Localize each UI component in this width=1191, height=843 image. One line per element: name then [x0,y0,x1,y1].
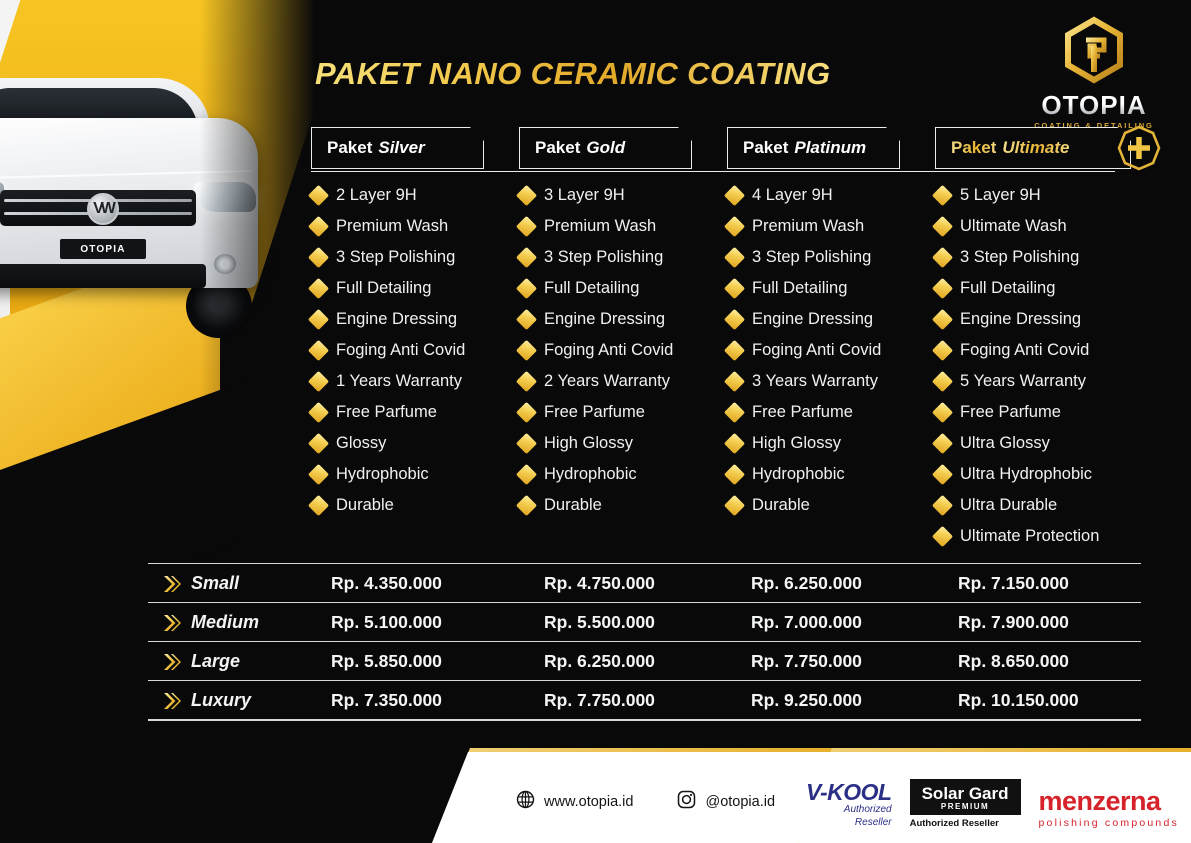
feature-label: 3 Step Polishing [752,248,871,267]
feature-item: Engine Dressing [311,304,465,335]
diamond-bullet-icon [516,216,537,237]
feature-item: High Glossy [727,428,881,459]
feature-item: Glossy [311,428,465,459]
size-cell: Luxury [162,681,251,720]
poster-root: VW OTOPIA PAKET NANO CERAMIC COATING [0,0,1191,843]
feature-label: Foging Anti Covid [752,341,881,360]
solargard-box: Solar Gard PREMIUM [910,779,1021,815]
price-cell: Rp. 7.150.000 [958,564,1069,603]
solargard-reseller: Authorized Reseller [910,818,1021,829]
feature-item: Engine Dressing [519,304,673,335]
diamond-bullet-icon [932,464,953,485]
feature-label: 2 Layer 9H [336,186,417,205]
feature-item: 3 Step Polishing [519,242,673,273]
feature-item: 5 Layer 9H [935,180,1099,211]
feature-item: Ultra Glossy [935,428,1099,459]
price-cell: Rp. 10.150.000 [958,681,1079,720]
feature-label: 3 Step Polishing [336,248,455,267]
table-row: LargeRp. 5.850.000Rp. 6.250.000Rp. 7.750… [148,641,1141,680]
feature-item: 3 Step Polishing [935,242,1099,273]
feature-label: Engine Dressing [336,310,457,329]
feature-label: Engine Dressing [544,310,665,329]
license-plate: OTOPIA [59,238,147,260]
tabs-baseline [311,171,1115,173]
price-cell: Rp. 7.350.000 [331,681,442,720]
feature-item: Full Detailing [935,273,1099,304]
feature-label: Ultra Glossy [960,434,1050,453]
diamond-bullet-icon [516,464,537,485]
diamond-bullet-icon [516,340,537,361]
diamond-bullet-icon [724,340,745,361]
diamond-bullet-icon [724,495,745,516]
feature-label: 4 Layer 9H [752,186,833,205]
footer: www.otopia.id @otopia.id V-KOOL Authoriz… [0,733,1191,843]
feature-item: Premium Wash [727,211,881,242]
diamond-bullet-icon [724,433,745,454]
feature-label: Premium Wash [336,217,448,236]
feature-label: Foging Anti Covid [544,341,673,360]
feature-item: Engine Dressing [727,304,881,335]
feature-label: Durable [336,496,394,515]
size-cell: Small [162,564,239,603]
feature-item: Durable [519,490,673,521]
diamond-bullet-icon [516,495,537,516]
feature-label: Hydrophobic [336,465,429,484]
diamond-bullet-icon [724,402,745,423]
feature-item: 3 Years Warranty [727,366,881,397]
feature-label: 3 Years Warranty [752,372,878,391]
feature-label: Free Parfume [752,403,853,422]
vw-emblem-icon: VW [87,193,119,225]
diamond-bullet-icon [724,371,745,392]
diamond-bullet-icon [932,340,953,361]
chevron-right-icon [162,652,182,672]
feature-label: High Glossy [752,434,841,453]
feature-label: 5 Layer 9H [960,186,1041,205]
price-cell: Rp. 7.000.000 [751,603,862,642]
feature-item: 5 Years Warranty [935,366,1099,397]
diamond-bullet-icon [516,278,537,299]
feature-item: Free Parfume [935,397,1099,428]
size-cell: Medium [162,603,259,642]
diamond-bullet-icon [516,402,537,423]
price-table: SmallRp. 4.350.000Rp. 4.750.000Rp. 6.250… [148,563,1141,721]
diamond-bullet-icon [308,309,329,330]
feature-label: Premium Wash [752,217,864,236]
vkool-line2: Reseller [806,817,892,830]
diamond-bullet-icon [724,464,745,485]
tab-paket-gold[interactable]: PaketGold [519,127,692,169]
feature-label: Engine Dressing [752,310,873,329]
feature-item: Full Detailing [311,273,465,304]
feature-item: Foging Anti Covid [519,335,673,366]
chevron-right-icon [162,691,182,711]
price-cell: Rp. 9.250.000 [751,681,862,720]
feature-label: 3 Layer 9H [544,186,625,205]
feature-label: Ultra Durable [960,496,1057,515]
tab-paket-ultimate[interactable]: PaketUltimate [935,127,1131,169]
feature-item: Hydrophobic [519,459,673,490]
feature-label: Full Detailing [960,279,1055,298]
feature-item: Foging Anti Covid [311,335,465,366]
feature-item: 4 Layer 9H [727,180,881,211]
price-cell: Rp. 7.750.000 [751,642,862,681]
feature-item: Ultra Durable [935,490,1099,521]
feature-label: Full Detailing [752,279,847,298]
feature-item: Free Parfume [519,397,673,428]
size-label: Small [191,573,239,594]
website-link[interactable]: www.otopia.id [544,794,633,810]
feature-item: Premium Wash [311,211,465,242]
price-cell: Rp. 5.100.000 [331,603,442,642]
car-bumper [0,264,206,288]
logo-wordmark: OTOPIA [1024,92,1164,118]
table-row: SmallRp. 4.350.000Rp. 4.750.000Rp. 6.250… [148,563,1141,602]
diamond-bullet-icon [308,464,329,485]
price-cell: Rp. 7.900.000 [958,603,1069,642]
feature-item: Foging Anti Covid [935,335,1099,366]
feature-item: Ultra Hydrophobic [935,459,1099,490]
diamond-bullet-icon [932,526,953,547]
size-label: Medium [191,612,259,633]
feature-label: 2 Years Warranty [544,372,670,391]
diamond-bullet-icon [308,216,329,237]
tab-prefix: Paket [535,138,580,157]
feature-item: Ultimate Protection [935,521,1099,552]
feature-column-ultimate: 5 Layer 9HUltimate Wash3 Step PolishingF… [935,180,1099,552]
feature-item: Durable [727,490,881,521]
diamond-bullet-icon [932,247,953,268]
diamond-bullet-icon [932,371,953,392]
feature-column-platinum: 4 Layer 9HPremium Wash3 Step PolishingFu… [727,180,881,521]
feature-column-silver: 2 Layer 9HPremium Wash3 Step PolishingFu… [311,180,465,521]
instagram-handle[interactable]: @otopia.id [705,794,775,810]
feature-item: Hydrophobic [311,459,465,490]
tab-name: Silver [378,138,424,157]
diamond-bullet-icon [724,185,745,206]
feature-item: 3 Step Polishing [311,242,465,273]
tab-prefix: Paket [327,138,372,157]
price-cell: Rp. 6.250.000 [751,564,862,603]
feature-item: 1 Years Warranty [311,366,465,397]
tab-prefix: Paket [743,138,788,157]
feature-item: 2 Years Warranty [519,366,673,397]
solargard-logo: Solar Gard PREMIUM Authorized Reseller [910,779,1021,829]
size-cell: Large [162,642,240,681]
diamond-bullet-icon [308,433,329,454]
feature-item: Full Detailing [727,273,881,304]
diamond-bullet-icon [308,371,329,392]
feature-item: Engine Dressing [935,304,1099,335]
feature-label: Durable [752,496,810,515]
feature-item: Free Parfume [311,397,465,428]
feature-label: Free Parfume [960,403,1061,422]
price-cell: Rp. 4.350.000 [331,564,442,603]
diamond-bullet-icon [724,278,745,299]
contact-info: www.otopia.id @otopia.id [516,790,775,813]
diamond-bullet-icon [308,340,329,361]
diamond-bullet-icon [932,402,953,423]
feature-label: Full Detailing [336,279,431,298]
tab-name: Ultimate [1002,138,1069,157]
diamond-bullet-icon [932,185,953,206]
feature-label: Free Parfume [336,403,437,422]
feature-label: Ultimate Wash [960,217,1067,236]
feature-label: Hydrophobic [752,465,845,484]
partner-logos: V-KOOL Authorized Reseller Solar Gard PR… [806,779,1179,829]
price-cell: Rp. 5.850.000 [331,642,442,681]
brand-logo: OTOPIA COATING & DETAILING [1024,16,1164,130]
hero-artwork: VW OTOPIA [0,0,330,560]
feature-item: Ultimate Wash [935,211,1099,242]
diamond-bullet-icon [308,495,329,516]
feature-label: Durable [544,496,602,515]
diamond-bullet-icon [516,433,537,454]
feature-label: Engine Dressing [960,310,1081,329]
diamond-bullet-icon [308,402,329,423]
tab-name: Platinum [794,138,866,157]
feature-label: 3 Step Polishing [544,248,663,267]
solargard-premium: PREMIUM [922,802,1009,811]
diamond-bullet-icon [932,278,953,299]
feature-item: 2 Layer 9H [311,180,465,211]
table-row: MediumRp. 5.100.000Rp. 5.500.000Rp. 7.00… [148,602,1141,641]
feature-item: Hydrophobic [727,459,881,490]
tab-paket-platinum[interactable]: PaketPlatinum [727,127,900,169]
tab-paket-silver[interactable]: PaketSilver [311,127,484,169]
diamond-bullet-icon [516,371,537,392]
tab-name: Gold [586,138,625,157]
package-tabs: PaketSilverPaketGoldPaketPlatinumPaketUl… [311,127,1115,171]
price-cell: Rp. 5.500.000 [544,603,655,642]
feature-item: Premium Wash [519,211,673,242]
instagram-icon [677,790,696,813]
feature-label: Free Parfume [544,403,645,422]
globe-icon [516,790,535,813]
feature-label: 1 Years Warranty [336,372,462,391]
feature-label: 5 Years Warranty [960,372,1086,391]
price-cell: Rp. 6.250.000 [544,642,655,681]
diamond-bullet-icon [308,185,329,206]
size-label: Luxury [191,690,251,711]
feature-label: Hydrophobic [544,465,637,484]
diamond-bullet-icon [724,216,745,237]
feature-label: Foging Anti Covid [336,341,465,360]
vkool-logo: V-KOOL Authorized Reseller [806,781,892,829]
feature-item: 3 Step Polishing [727,242,881,273]
feature-label: High Glossy [544,434,633,453]
feature-label: Ultimate Protection [960,527,1099,546]
diamond-bullet-icon [308,247,329,268]
feature-item: 3 Layer 9H [519,180,673,211]
feature-item: Full Detailing [519,273,673,304]
diamond-bullet-icon [724,309,745,330]
price-cell: Rp. 4.750.000 [544,564,655,603]
diamond-bullet-icon [516,185,537,206]
feature-item: Foging Anti Covid [727,335,881,366]
feature-label: Premium Wash [544,217,656,236]
diamond-bullet-icon [308,278,329,299]
plus-badge-icon [1115,124,1163,172]
diamond-bullet-icon [932,216,953,237]
chevron-right-icon [162,613,182,633]
vkool-wordmark: V-KOOL [806,781,892,804]
feature-item: Free Parfume [727,397,881,428]
feature-item: High Glossy [519,428,673,459]
feature-label: 3 Step Polishing [960,248,1079,267]
feature-label: Foging Anti Covid [960,341,1089,360]
feature-label: Glossy [336,434,386,453]
feature-label: Ultra Hydrophobic [960,465,1092,484]
menzerna-logo: menzerna polishing compounds [1039,788,1179,829]
feature-column-gold: 3 Layer 9HPremium Wash3 Step PolishingFu… [519,180,673,521]
vkool-line1: Authorized [806,804,892,817]
menzerna-tagline: polishing compounds [1039,817,1179,829]
menzerna-wordmark: menzerna [1039,788,1179,815]
diamond-bullet-icon [932,495,953,516]
table-row: LuxuryRp. 7.350.000Rp. 7.750.000Rp. 9.25… [148,680,1141,719]
page-title: PAKET NANO CERAMIC COATING [315,56,831,92]
diamond-bullet-icon [516,309,537,330]
size-label: Large [191,651,240,672]
hexagon-otopia-logo-icon [1060,16,1128,90]
diamond-bullet-icon [932,309,953,330]
tab-prefix: Paket [951,138,996,157]
diamond-bullet-icon [516,247,537,268]
solargard-wordmark: Solar Gard [922,785,1009,802]
price-cell: Rp. 7.750.000 [544,681,655,720]
price-cell: Rp. 8.650.000 [958,642,1069,681]
chevron-right-icon [162,574,182,594]
feature-label: Full Detailing [544,279,639,298]
diamond-bullet-icon [932,433,953,454]
diamond-bullet-icon [724,247,745,268]
feature-item: Durable [311,490,465,521]
